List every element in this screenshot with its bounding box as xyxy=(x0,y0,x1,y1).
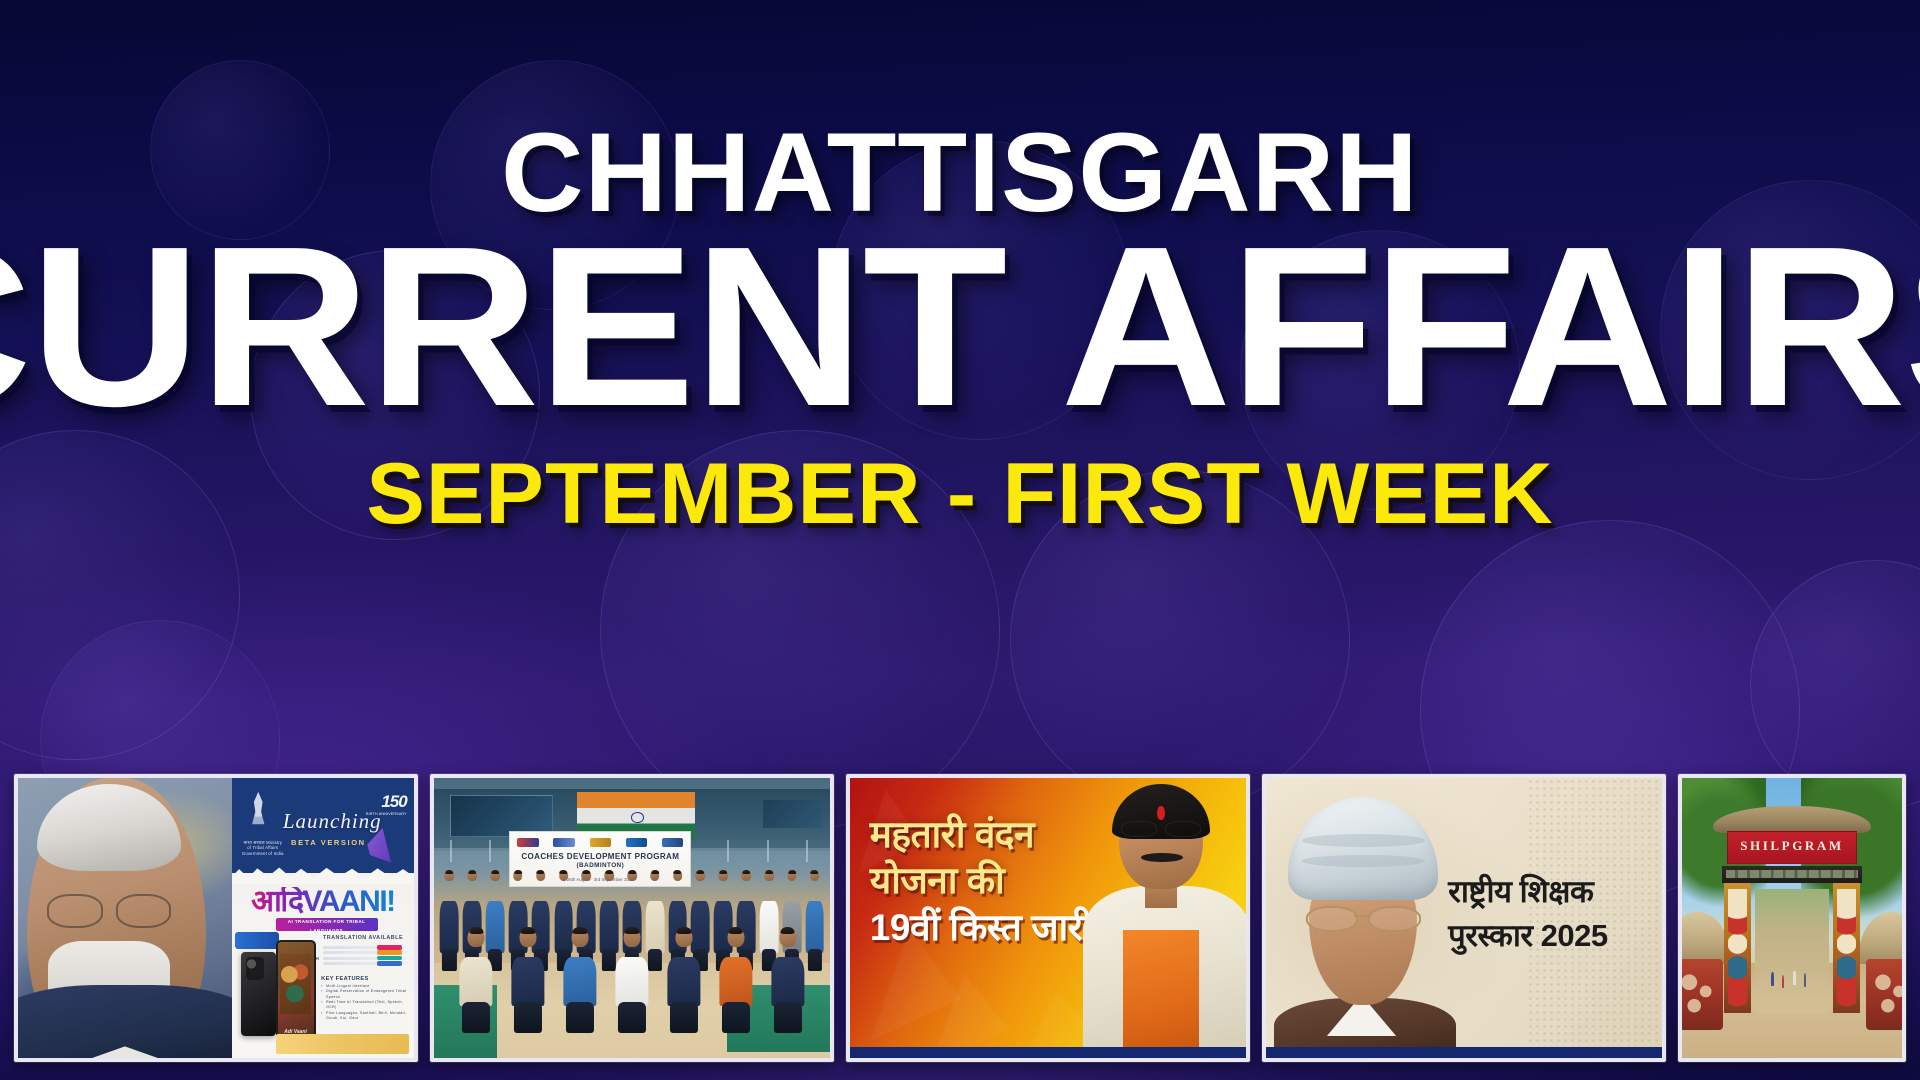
award-title-line-2: पुरस्कार 2025 xyxy=(1448,914,1646,958)
key-features-title: KEY FEATURES xyxy=(321,976,408,982)
key-feature-item: Digital Preservation of Endangered Triba… xyxy=(321,989,408,1000)
language-bar xyxy=(323,957,407,960)
launching-label: Launching xyxy=(283,809,378,834)
gate-lintel xyxy=(1722,866,1863,883)
microphone-badge-icon xyxy=(235,932,279,949)
award-title-text: राष्ट्रीय शिक्षक पुरस्कार 2025 xyxy=(1448,870,1646,958)
phone-front-image: Adi Vaani xyxy=(276,940,316,1041)
govt-emblem-logo-icon xyxy=(590,838,612,847)
poster-tagline: AI TRANSLATION FOR TRIBAL LANGUAGES xyxy=(276,918,378,931)
shilpgram-sign: SHILPGRAM xyxy=(1727,831,1857,864)
key-features-list: Multi-Lingual Interface Digital Preserva… xyxy=(321,984,408,1022)
beta-version-label: BETA VERSION xyxy=(288,838,368,847)
modi-photo xyxy=(18,778,232,1058)
person-figure-kneeling xyxy=(562,924,599,1036)
anniversary-number: 150 xyxy=(381,792,406,811)
sai-logo-icon xyxy=(626,838,648,847)
page-subtitle: SEPTEMBER - FIRST WEEK xyxy=(366,451,1553,537)
thumbnail-coaches-program[interactable]: COACHES DEVELOPMENT PROGRAM (BADMINTON) … xyxy=(430,774,834,1062)
language-bar xyxy=(323,951,407,954)
glasses-icon xyxy=(45,894,174,923)
thumbnail-strip: भारत सरकार Ministry of Tribal Affairs Go… xyxy=(14,774,1906,1062)
person-figure-kneeling xyxy=(769,924,806,1036)
bottom-band xyxy=(1266,1047,1662,1058)
language-bar xyxy=(323,962,407,965)
thumbnail-adi-vaani[interactable]: भारत सरकार Ministry of Tribal Affairs Go… xyxy=(14,774,418,1062)
hut-right xyxy=(1862,912,1906,1030)
thumbnail-shilpgram[interactable]: SHILPGRAM xyxy=(1678,774,1906,1062)
clothing-shape xyxy=(14,985,262,1058)
sports-authority-logo-icon xyxy=(553,838,575,847)
visitor-figure xyxy=(1771,972,1774,986)
railing-post xyxy=(806,840,808,862)
hair-shape xyxy=(37,784,181,871)
page-title-main: CURRENT AFFAIRS xyxy=(0,232,1920,424)
gate-pillar-left xyxy=(1724,881,1751,1014)
glasses-icon xyxy=(1121,821,1201,835)
thumbnail-image: COACHES DEVELOPMENT PROGRAM (BADMINTON) … xyxy=(434,778,830,1058)
person-figure-kneeling xyxy=(510,924,547,1036)
bubble-shape xyxy=(1750,560,1920,810)
visitor-figure xyxy=(1782,975,1785,989)
govt-emblem-icon xyxy=(246,792,270,837)
torn-paper-divider xyxy=(232,865,414,885)
announcement-text: महतारी वंदन योजना की 19वीं किस्त जारी xyxy=(870,812,1100,952)
translation-available-label: TRANSLATION AVAILABLE xyxy=(319,935,406,941)
visitor-figure xyxy=(1804,973,1807,987)
hut-wall xyxy=(1678,959,1723,1030)
glasses-icon xyxy=(1306,906,1421,928)
thumbnail-image: भारत सरकार Ministry of Tribal Affairs Go… xyxy=(18,778,414,1058)
hut-roof xyxy=(1858,912,1906,964)
poster-canvas: CHHATTISGARH CURRENT AFFAIRS SEPTEMBER -… xyxy=(0,0,1920,1080)
key-feature-item: Real-Time AI Translation (Text, Speech, … xyxy=(321,1000,408,1011)
railing-post xyxy=(767,840,769,862)
bai-logo-icon xyxy=(662,838,684,847)
hut-wall xyxy=(1866,959,1906,1030)
award-title-line-1: राष्ट्रीय शिक्षक xyxy=(1448,870,1646,914)
person-figure-kneeling xyxy=(458,924,495,1036)
key-features-block: KEY FEATURES Multi-Lingual Interface Dig… xyxy=(321,976,408,1022)
banner-title: COACHES DEVELOPMENT PROGRAM xyxy=(521,852,679,861)
collar-shape xyxy=(92,1046,158,1058)
phone-back-image xyxy=(241,952,276,1036)
announcement-line-3: 19वीं किस्त जारी xyxy=(870,905,1100,952)
person-figure-kneeling xyxy=(717,924,754,1036)
gate-roof xyxy=(1713,806,1871,833)
pathway-shape xyxy=(1755,889,1828,1013)
gate-pillar-right xyxy=(1833,881,1860,1014)
turban-shape xyxy=(1288,797,1438,900)
railing-post xyxy=(489,840,491,862)
railing-post xyxy=(727,840,729,862)
person-figure-kneeling xyxy=(665,924,702,1036)
railing-post xyxy=(450,840,452,862)
thumbnail-image: SHILPGRAM xyxy=(1682,778,1902,1058)
group-front-row xyxy=(434,924,830,1036)
announcement-line-2: योजना की xyxy=(870,858,1100,905)
logo-latin-text: VAANI! xyxy=(303,885,395,918)
hut-left xyxy=(1678,912,1726,1030)
logo-hindi-text: आदि xyxy=(251,885,302,918)
shilpgram-gate: SHILPGRAM xyxy=(1722,806,1863,1013)
announcement-line-1: महतारी वंदन xyxy=(870,812,1100,859)
person-figure-kneeling xyxy=(614,924,651,1036)
ministry-label: भारत सरकार Ministry of Tribal Affairs Go… xyxy=(241,840,285,857)
tops-logo-icon xyxy=(517,838,539,847)
thumbnail-image: राष्ट्रीय शिक्षक पुरस्कार 2025 xyxy=(1266,778,1662,1058)
poster-footer-bar xyxy=(276,1034,409,1054)
chief-minister-photo xyxy=(1072,781,1250,1058)
kurta-shape xyxy=(1123,930,1200,1058)
language-bar xyxy=(323,946,407,949)
thumbnail-image: महतारी वंदन योजना की 19वीं किस्त जारी xyxy=(850,778,1246,1058)
banner-logo-row xyxy=(517,837,683,849)
visitor-figure xyxy=(1793,971,1796,985)
thumbnail-mahtari-vandan[interactable]: महतारी वंदन योजना की 19वीं किस्त जारी xyxy=(846,774,1250,1062)
tilak-mark-icon xyxy=(1157,806,1164,820)
title-stack: CHHATTISGARH CURRENT AFFAIRS SEPTEMBER -… xyxy=(0,0,1920,537)
radhakrishnan-portrait xyxy=(1278,786,1452,1058)
wall-poster-right xyxy=(763,800,822,828)
adi-vaani-logo: आदिVAANI! xyxy=(239,887,407,917)
moustache-shape xyxy=(1141,853,1183,862)
banner-title-block: COACHES DEVELOPMENT PROGRAM (BADMINTON) xyxy=(521,852,680,871)
bottom-band xyxy=(850,1047,1246,1058)
thumbnail-national-teacher-award[interactable]: राष्ट्रीय शिक्षक पुरस्कार 2025 xyxy=(1262,774,1666,1062)
key-feature-item: Pilot Languages: Santhali, Bhili, Mundar… xyxy=(321,1011,408,1022)
adi-vaani-poster: भारत सरकार Ministry of Tribal Affairs Go… xyxy=(232,778,414,1058)
